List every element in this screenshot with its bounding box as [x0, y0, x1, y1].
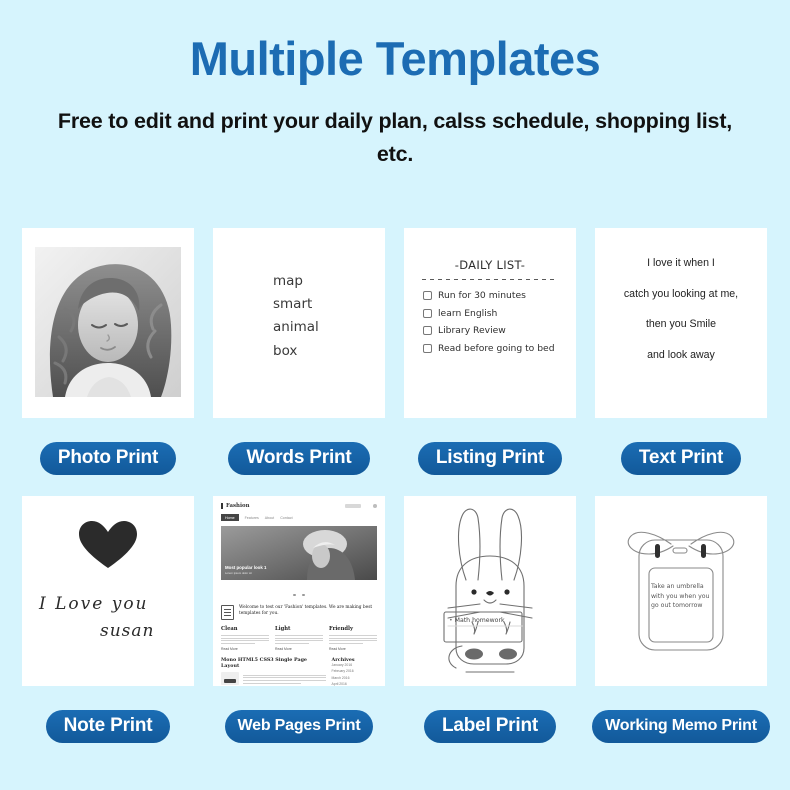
card-label-print[interactable]: • Math homework — [404, 496, 576, 688]
menu-icon[interactable] — [373, 504, 377, 508]
card-preview-note: I Love you susan — [22, 496, 194, 686]
quote-line: catch you looking at me, — [595, 289, 767, 300]
button-cell: Web Pages Print — [213, 688, 385, 764]
footer-title: Mono HTML5 CSS3 Single Page Layout — [221, 657, 326, 669]
listing-print-button[interactable]: Listing Print — [418, 442, 562, 475]
card-preview-photo — [22, 228, 194, 418]
feature-column: Light Read More — [275, 626, 323, 651]
page-header: Multiple Templates Free to edit and prin… — [0, 0, 790, 171]
card-preview-words: map smart animal box — [213, 228, 385, 418]
footer-article: Mono HTML5 CSS3 Single Page Layout Read … — [221, 657, 326, 686]
topbar-right — [345, 504, 377, 508]
word-item: map — [273, 270, 319, 293]
card-workingmemo-print[interactable]: Take an umbrella with you when you go ou… — [595, 496, 767, 688]
todo-item[interactable]: Library Review — [423, 325, 560, 336]
daily-list: -DAILY LIST- Run for 30 minutes learn En… — [404, 228, 576, 418]
page-subtitle: Free to edit and print your daily plan, … — [45, 105, 745, 170]
read-more-link[interactable]: Read More — [329, 647, 377, 651]
promo-page: Multiple Templates Free to edit and prin… — [0, 0, 790, 790]
card-preview-memo: Take an umbrella with you when you go ou… — [595, 496, 767, 686]
note-line-2: susan — [100, 621, 154, 641]
todo-label: Run for 30 minutes — [438, 290, 526, 301]
dashed-divider — [422, 279, 558, 280]
site-nav: Home Features About Contact — [221, 514, 377, 521]
words-list: map smart animal box — [273, 270, 319, 363]
quote-line: then you Smile — [595, 319, 767, 330]
feature-text — [329, 635, 377, 644]
card-preview-label: • Math homework — [404, 496, 576, 686]
archives-block: Archives January 2016 February 2016 Marc… — [332, 657, 377, 686]
feature-text — [221, 635, 269, 644]
search-icon[interactable] — [345, 504, 361, 508]
nav-item-home[interactable]: Home — [221, 514, 239, 521]
word-item: box — [273, 340, 319, 363]
button-cell: Text Print — [595, 420, 767, 496]
todo-item[interactable]: Run for 30 minutes — [423, 290, 560, 301]
card-preview-listing: -DAILY LIST- Run for 30 minutes learn En… — [404, 228, 576, 418]
card-photo-print[interactable] — [22, 228, 194, 420]
portrait-photo — [35, 247, 181, 397]
site-logo: Fashion — [221, 503, 250, 509]
card-listing-print[interactable]: -DAILY LIST- Run for 30 minutes learn En… — [404, 228, 576, 420]
card-text-print[interactable]: I love it when I catch you looking at me… — [595, 228, 767, 420]
word-item: smart — [273, 293, 319, 316]
todo-label: Library Review — [438, 325, 506, 336]
webpage-mockup: Fashion Home Features About Contact — [213, 496, 385, 686]
welcome-text: Welcome to test our 'Fashion' templates.… — [239, 605, 377, 617]
webpages-print-button[interactable]: Web Pages Print — [225, 710, 374, 743]
button-cell: Note Print — [22, 688, 194, 764]
label-note-text: • Math homework — [449, 617, 505, 624]
quote-line: and look away — [595, 350, 767, 361]
feature-column: Clean Read More — [221, 626, 269, 651]
button-cell: Working Memo Print — [595, 688, 767, 764]
bunny-illustration — [404, 496, 576, 686]
carousel-dot[interactable] — [302, 594, 305, 597]
button-cell: Photo Print — [22, 420, 194, 496]
feature-columns: Clean Read More Light Read More Friendly — [221, 626, 377, 651]
carousel-dot[interactable] — [293, 594, 296, 597]
photo-print-button[interactable]: Photo Print — [40, 442, 176, 475]
archive-item[interactable]: February 2016 — [332, 669, 377, 673]
feature-text — [275, 635, 323, 644]
nav-item-about[interactable]: About — [265, 516, 274, 520]
archives-list: January 2016 February 2016 March 2016 Ap… — [332, 663, 377, 686]
todo-label: Read before going to bed — [438, 343, 555, 354]
checkbox-icon[interactable] — [423, 344, 432, 353]
template-grid: map smart animal box -DAILY LIST- Run fo… — [22, 228, 768, 764]
hero-title: Most popular look 1 — [225, 565, 266, 570]
hero-subtitle: Lorem ipsum dolor sit — [225, 571, 266, 575]
nav-item-contact[interactable]: Contact — [280, 516, 292, 520]
feature-title: Clean — [221, 626, 269, 632]
quote-line: I love it when I — [595, 258, 767, 269]
archive-item[interactable]: January 2016 — [332, 663, 377, 667]
page-title: Multiple Templates — [0, 34, 790, 83]
card-preview-webpage: Fashion Home Features About Contact — [213, 496, 385, 686]
hero-caption: Most popular look 1 Lorem ipsum dolor si… — [225, 565, 266, 575]
article-thumbnail — [221, 672, 239, 685]
photo-frame — [35, 247, 181, 397]
read-more-link[interactable]: Read More — [275, 647, 323, 651]
card-preview-text: I love it when I catch you looking at me… — [595, 228, 767, 418]
footer-body — [221, 672, 326, 685]
label-note-value: Math homework — [455, 617, 505, 624]
carousel-dots[interactable] — [221, 583, 377, 601]
checkbox-icon[interactable] — [423, 309, 432, 318]
text-print-button[interactable]: Text Print — [621, 442, 741, 475]
webpage-footer: Mono HTML5 CSS3 Single Page Layout Read … — [221, 657, 377, 686]
read-more-link[interactable]: Read More — [221, 647, 269, 651]
card-note-print[interactable]: I Love you susan — [22, 496, 194, 688]
welcome-block: Welcome to test our 'Fashion' templates.… — [221, 605, 377, 620]
feature-title: Friendly — [329, 626, 377, 632]
note-print-button[interactable]: Note Print — [46, 710, 171, 743]
note-line-1: I Love you — [39, 594, 149, 614]
todo-item[interactable]: learn English — [423, 308, 560, 319]
checkbox-icon[interactable] — [423, 326, 432, 335]
button-cell: Label Print — [404, 688, 576, 764]
daily-list-title: -DAILY LIST- — [420, 258, 560, 272]
feature-title: Light — [275, 626, 323, 632]
word-item: animal — [273, 316, 319, 339]
button-cell: Words Print — [213, 420, 385, 496]
hero-banner: Most popular look 1 Lorem ipsum dolor si… — [221, 526, 377, 580]
checkbox-icon[interactable] — [423, 291, 432, 300]
quote-block: I love it when I catch you looking at me… — [595, 258, 767, 380]
feature-column: Friendly Read More — [329, 626, 377, 651]
label-print-button[interactable]: Label Print — [424, 710, 556, 743]
nav-item-features[interactable]: Features — [245, 516, 259, 520]
webpage-topbar: Fashion — [221, 503, 377, 509]
document-icon — [221, 605, 234, 620]
memo-note-text: Take an umbrella with you when you go ou… — [651, 582, 717, 611]
todo-label: learn English — [438, 308, 497, 319]
button-cell: Listing Print — [404, 420, 576, 496]
workingmemo-print-button[interactable]: Working Memo Print — [592, 710, 770, 743]
archive-item[interactable]: March 2016 — [332, 676, 377, 680]
archive-item[interactable]: April 2016 — [332, 682, 377, 686]
footer-text — [243, 675, 326, 685]
card-words-print[interactable]: map smart animal box — [213, 228, 385, 420]
todo-item[interactable]: Read before going to bed — [423, 343, 560, 354]
heart-icon — [77, 520, 139, 575]
card-webpages-print[interactable]: Fashion Home Features About Contact — [213, 496, 385, 688]
words-print-button[interactable]: Words Print — [228, 442, 369, 475]
